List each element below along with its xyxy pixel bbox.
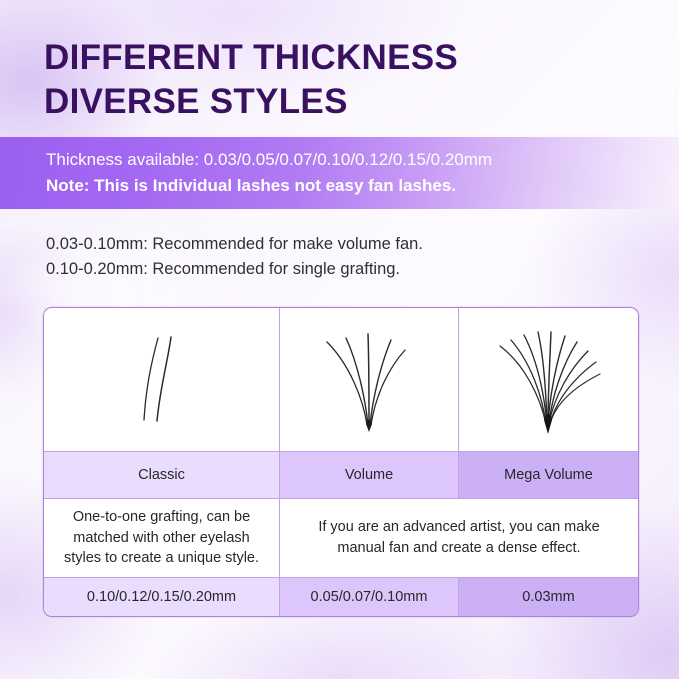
mega-volume-lash-illustration-cell (459, 308, 638, 452)
recommendation-item-1: 0.03-0.10mm: Recommended for make volume… (46, 232, 423, 257)
size-cell-mega-volume: 0.03mm (459, 578, 638, 616)
classic-lash-illustration-cell (44, 308, 280, 452)
page-title-line-2: DIVERSE STYLES (44, 80, 634, 124)
table-row-sizes: 0.10/0.12/0.15/0.20mm 0.05/0.07/0.10mm 0… (44, 578, 638, 616)
table-row-descriptions: One-to-one grafting, can be matched with… (44, 499, 638, 578)
description-volume-line-2: manual fan and create a dense effect. (280, 538, 638, 559)
page-title-line-1: DIFFERENT THICKNESS (44, 36, 634, 80)
label-cell-classic: Classic (44, 452, 280, 499)
banner-note-text: Note: This is Individual lashes not easy… (46, 173, 679, 199)
description-classic-line-2: matched with other eyelash (44, 528, 279, 549)
size-cell-volume: 0.05/0.07/0.10mm (280, 578, 459, 616)
page-title: DIFFERENT THICKNESS DIVERSE STYLES (44, 36, 634, 124)
description-cell-classic: One-to-one grafting, can be matched with… (44, 499, 280, 578)
table-row-labels: Classic Volume Mega Volume (44, 452, 638, 499)
description-volume-line-1: If you are an advanced artist, you can m… (280, 517, 638, 538)
table-row-illustrations (44, 308, 638, 452)
recommendation-list: 0.03-0.10mm: Recommended for make volume… (46, 232, 423, 282)
volume-lash-illustration-cell (280, 308, 459, 452)
thickness-banner: Thickness available: 0.03/0.05/0.07/0.10… (0, 137, 679, 209)
thickness-available-text: Thickness available: 0.03/0.05/0.07/0.10… (46, 147, 679, 173)
volume-fan-icon (280, 320, 458, 440)
mega-volume-fan-icon (459, 320, 638, 440)
label-cell-volume: Volume (280, 452, 459, 499)
lash-style-comparison-table: Classic Volume Mega Volume One-to-one gr… (43, 307, 639, 617)
description-classic-line-3: styles to create a unique style. (44, 548, 279, 569)
single-lash-pair-icon (44, 320, 279, 440)
description-classic-line-1: One-to-one grafting, can be (44, 507, 279, 528)
description-cell-volume-mega: If you are an advanced artist, you can m… (280, 499, 638, 578)
size-cell-classic: 0.10/0.12/0.15/0.20mm (44, 578, 280, 616)
recommendation-item-2: 0.10-0.20mm: Recommended for single graf… (46, 257, 423, 282)
label-cell-mega-volume: Mega Volume (459, 452, 638, 499)
